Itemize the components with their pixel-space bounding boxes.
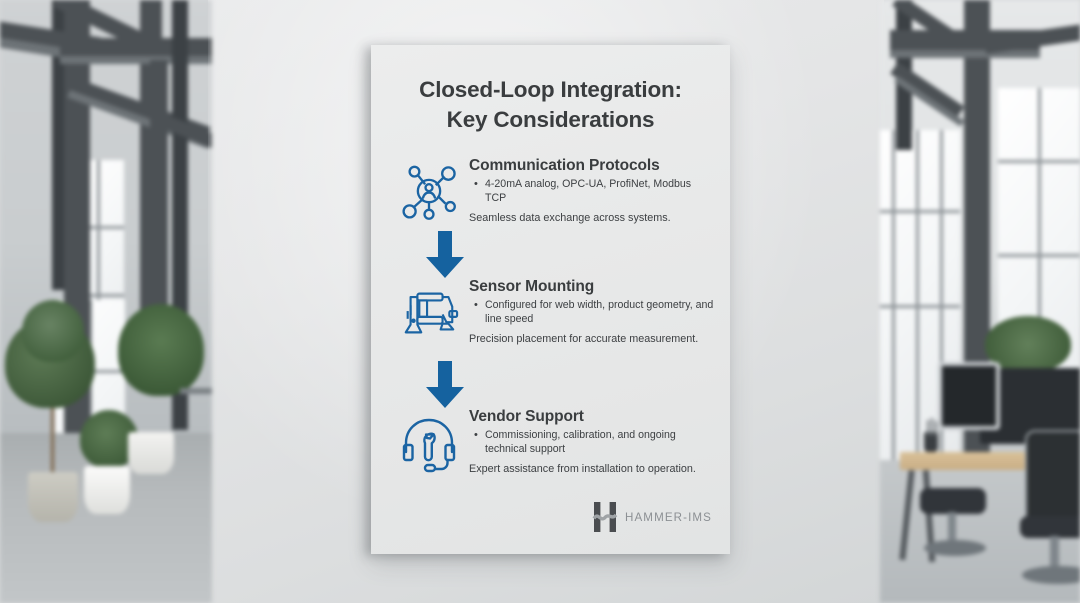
list-item: 4-20mA analog, OPC-UA, ProfiNet, Modbus … (469, 178, 714, 206)
list-item: Commissioning, calibration, and ongoing … (469, 429, 714, 457)
list-item: Configured for web width, product geomet… (469, 299, 714, 327)
network-hub-people-icon (393, 157, 465, 223)
beam (890, 50, 1040, 58)
plant-foliage (118, 304, 204, 396)
office-chair-base (1022, 566, 1080, 584)
page-title-line-2: Key Considerations (393, 105, 708, 135)
monitor-primary (938, 362, 1000, 430)
poster: Closed-Loop Integration: Key Considerati… (371, 45, 730, 554)
section-communication-protocols: Communication Protocols 4-20mA analog, O… (393, 157, 714, 225)
section-sensor-mounting: Sensor Mounting Configured for web width… (393, 278, 714, 346)
section-bullet-list: Configured for web width, product geomet… (469, 299, 714, 327)
brand-logo-text: HAMMER-IMS (625, 511, 712, 524)
section-heading: Vendor Support (469, 408, 714, 426)
section-body: Communication Protocols 4-20mA analog, O… (465, 157, 714, 225)
background-left-interior (0, 0, 212, 603)
section-heading: Sensor Mounting (469, 278, 714, 296)
office-chair-far-seat (920, 488, 986, 514)
scene-root: Closed-Loop Integration: Key Considerati… (0, 0, 1080, 603)
section-bullet-list: Commissioning, calibration, and ongoing … (469, 429, 714, 457)
hammer-ims-h-mark-icon (592, 502, 618, 532)
brand-logo: HAMMER-IMS (592, 502, 712, 532)
section-note: Precision placement for accurate measure… (469, 333, 714, 347)
desk-leg (899, 470, 914, 560)
background-right-interior (880, 0, 1080, 603)
section-body: Sensor Mounting Configured for web width… (465, 278, 714, 346)
section-body: Vendor Support Commissioning, calibratio… (465, 408, 714, 476)
section-note: Seamless data exchange across systems. (469, 212, 714, 226)
office-chair-far-base (924, 540, 986, 556)
plant-pot (84, 466, 130, 514)
headset-wrench-support-icon (393, 408, 465, 476)
plant-pot (128, 432, 174, 474)
office-chair-seat (1020, 516, 1080, 538)
plant-foliage (22, 300, 84, 362)
section-bullet-list: 4-20mA analog, OPC-UA, ProfiNet, Modbus … (469, 178, 714, 206)
section-vendor-support: Vendor Support Commissioning, calibratio… (393, 408, 714, 476)
page-title: Closed-Loop Integration: Key Considerati… (393, 45, 708, 134)
section-note: Expert assistance from installation to o… (469, 463, 714, 477)
sensor-mounting-frame-icon (393, 278, 465, 344)
plant-stem (51, 400, 54, 480)
beam (60, 56, 212, 64)
down-arrow-2 (423, 361, 467, 409)
office-chair-back (1025, 430, 1080, 530)
page-title-line-1: Closed-Loop Integration: (419, 77, 682, 102)
console-table (180, 388, 212, 394)
down-arrow-1 (423, 231, 467, 279)
plant-pot (28, 472, 78, 522)
section-heading: Communication Protocols (469, 157, 714, 175)
